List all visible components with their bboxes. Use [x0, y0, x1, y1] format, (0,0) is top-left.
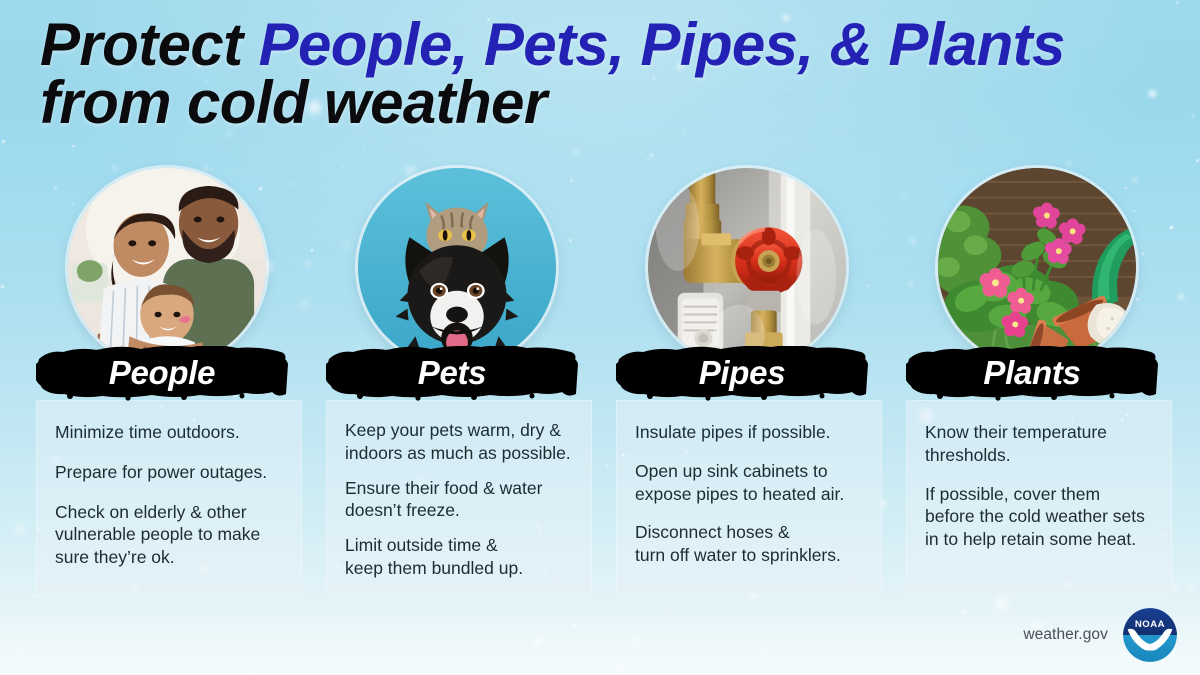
- bottom-fade-overlay: [0, 605, 1200, 675]
- tips-panel-pets: Keep your pets warm, dry & indoors as mu…: [326, 400, 592, 596]
- dog-and-cat-photo: [358, 168, 556, 366]
- noaa-logo: NOAA: [1122, 607, 1178, 663]
- banner-label-pipes: Pipes: [616, 346, 868, 402]
- tip-item: Limit outside time & keep them bundled u…: [345, 534, 577, 580]
- snowflake-particle: [572, 624, 574, 626]
- noaa-logo-text: NOAA: [1135, 619, 1165, 630]
- snowflake-particle: [804, 663, 805, 664]
- snowflake-particle: [503, 638, 505, 640]
- topic-column-plants: Plants Know their temperature thresholds…: [898, 168, 1176, 608]
- snowflake-particle: [374, 141, 375, 142]
- snowflake-particle: [1, 285, 4, 288]
- title-line-two: from cold weather: [40, 74, 1170, 132]
- snowflake-particle: [650, 154, 653, 157]
- snowflake-particle: [247, 672, 250, 675]
- snowflake-particle: [16, 524, 24, 532]
- footer: weather.gov NOAA: [1023, 607, 1178, 663]
- tip-item: Check on elderly & other vulnerable peop…: [55, 501, 287, 569]
- banner-pipes: Pipes: [616, 346, 868, 402]
- tip-item: Minimize time outdoors.: [55, 421, 287, 444]
- topic-column-people: People Minimize time outdoors. Prepare f…: [28, 168, 306, 608]
- snowflake-particle: [72, 145, 74, 147]
- snowflake-particle: [647, 158, 649, 160]
- banner-plants: Plants: [906, 346, 1158, 402]
- family-photo: [68, 168, 266, 366]
- snowflake-particle: [535, 639, 542, 646]
- snowflake-particle: [667, 609, 670, 612]
- snowflake-particle: [342, 165, 344, 167]
- banner-label-plants: Plants: [906, 346, 1158, 402]
- snowflake-particle: [2, 140, 5, 143]
- snowflake-particle: [962, 611, 965, 614]
- pipes-valve-photo: [648, 168, 846, 366]
- tip-item: If possible, cover them before the cold …: [925, 483, 1157, 551]
- snowflake-particle: [509, 663, 511, 665]
- tip-item: Disconnect hoses & turn off water to spr…: [635, 521, 867, 567]
- snowflake-particle: [1190, 176, 1192, 178]
- tips-panel-people: Minimize time outdoors. Prepare for powe…: [36, 400, 302, 596]
- snowflake-particle: [363, 146, 365, 148]
- tip-item: Ensure their food & water doesn’t freeze…: [345, 477, 577, 523]
- snowflake-particle: [766, 649, 769, 652]
- snowflake-particle: [573, 148, 580, 155]
- snowflake-particle: [1192, 115, 1195, 118]
- banner-label-pets: Pets: [326, 346, 578, 402]
- weather-gov-url: weather.gov: [1023, 626, 1108, 644]
- topic-columns: People Minimize time outdoors. Prepare f…: [28, 168, 1176, 608]
- snowflake-particle: [17, 650, 20, 653]
- banner-label-people: People: [36, 346, 288, 402]
- snowflake-particle: [1067, 162, 1071, 166]
- tip-item: Keep your pets warm, dry & indoors as mu…: [345, 419, 577, 465]
- tip-item: Know their temperature thresholds.: [925, 421, 1157, 467]
- topic-column-pipes: Pipes Insulate pipes if possible. Open u…: [608, 168, 886, 608]
- title-part-protect: Protect: [40, 11, 259, 78]
- tips-panel-plants: Know their temperature thresholds. If po…: [906, 400, 1172, 596]
- title-part-subjects: People, Pets, Pipes, & Plants: [259, 11, 1065, 78]
- snowflake-particle: [634, 640, 641, 647]
- snowflake-particle: [711, 641, 713, 643]
- banner-people: People: [36, 346, 288, 402]
- tips-panel-pipes: Insulate pipes if possible. Open up sink…: [616, 400, 882, 596]
- tip-item: Insulate pipes if possible.: [635, 421, 867, 444]
- tip-item: Prepare for power outages.: [55, 461, 287, 484]
- tip-item: Open up sink cabinets to expose pipes to…: [635, 460, 867, 506]
- snowflake-particle: [1176, 1, 1179, 4]
- page-title: Protect People, Pets, Pipes, & Plants fr…: [40, 16, 1170, 131]
- snowflake-particle: [1178, 294, 1184, 300]
- snowflake-particle: [621, 666, 624, 669]
- snowflake-particle: [772, 639, 775, 642]
- banner-pets: Pets: [326, 346, 578, 402]
- snowflake-particle: [1188, 585, 1193, 590]
- snowflake-particle: [682, 132, 683, 133]
- garden-plants-photo: [938, 168, 1136, 366]
- infographic-poster: Protect People, Pets, Pipes, & Plants fr…: [0, 0, 1200, 675]
- snowflake-particle: [1196, 159, 1199, 162]
- snowflake-particle: [686, 616, 687, 617]
- topic-column-pets: Pets Keep your pets warm, dry & indoors …: [318, 168, 596, 608]
